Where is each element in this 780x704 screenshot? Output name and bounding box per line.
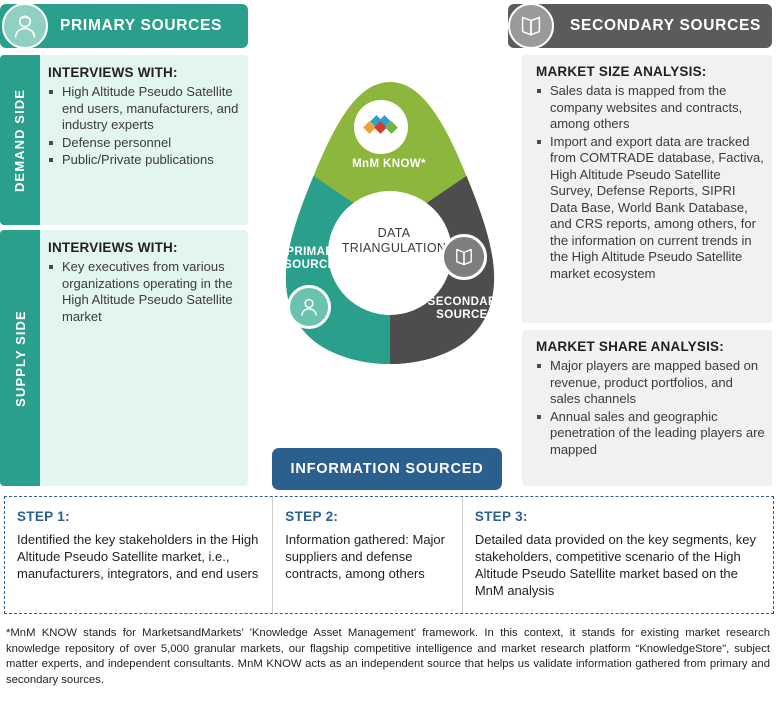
step-3-text: Detailed data provided on the key segmen…: [475, 531, 761, 599]
step-1-title: STEP 1:: [17, 509, 260, 524]
step-3: STEP 3: Detailed data provided on the ke…: [462, 497, 773, 613]
mnm-logo-icon: [354, 100, 408, 154]
list-item: High Altitude Pseudo Satellite end users…: [48, 84, 240, 134]
supply-side-content: INTERVIEWS WITH: Key executives from var…: [48, 240, 240, 326]
footnote: *MnM KNOW stands for MarketsandMarkets’ …: [6, 626, 770, 688]
steps-strip: STEP 1: Identified the key stakeholders …: [4, 496, 774, 614]
lobe-label-mnm-know: MnM KNOW*: [314, 158, 464, 171]
market-share-heading: MARKET SHARE ANALYSIS:: [536, 339, 766, 354]
supply-side-tab: SUPPLY SIDE: [0, 230, 40, 486]
list-item: Sales data is mapped from the company we…: [536, 83, 766, 133]
demand-side-bullets: High Altitude Pseudo Satellite end users…: [48, 84, 240, 169]
list-item: Key executives from various organization…: [48, 259, 240, 325]
lobe-label-secondary-sources: SECONDARY SOURCES: [420, 296, 512, 322]
demand-side-tab-label: DEMAND SIDE: [13, 88, 28, 191]
step-2-title: STEP 2:: [285, 509, 450, 524]
market-size-content: MARKET SIZE ANALYSIS: Sales data is mapp…: [536, 64, 766, 283]
step-1: STEP 1: Identified the key stakeholders …: [5, 497, 272, 613]
book-icon: [508, 3, 554, 49]
information-sourced-banner: INFORMATION SOURCED: [272, 448, 502, 490]
step-2: STEP 2: Information gathered: Major supp…: [272, 497, 462, 613]
list-item: Import and export data are tracked from …: [536, 134, 766, 283]
market-size-heading: MARKET SIZE ANALYSIS:: [536, 64, 766, 79]
center-label: DATA TRIANGULATION: [340, 226, 448, 256]
primary-sources-title: PRIMARY SOURCES: [60, 17, 222, 35]
person-icon: [287, 285, 331, 329]
data-triangulation-diagram: MnM KNOW* PRIMARY SOURCES SECONDARY SOUR…: [268, 78, 512, 368]
book-icon: [441, 234, 487, 280]
demand-side-tab: DEMAND SIDE: [0, 55, 40, 225]
demand-side-content: INTERVIEWS WITH: High Altitude Pseudo Sa…: [48, 65, 240, 170]
list-item: Defense personnel: [48, 135, 240, 152]
market-share-analysis-panel: MARKET SHARE ANALYSIS: Major players are…: [522, 330, 772, 486]
step-2-text: Information gathered: Major suppliers an…: [285, 531, 450, 582]
market-share-bullets: Major players are mapped based on revenu…: [536, 358, 766, 458]
person-icon: [2, 3, 48, 49]
demand-side-heading: INTERVIEWS WITH:: [48, 65, 240, 80]
list-item: Annual sales and geographic penetration …: [536, 409, 766, 459]
information-sourced-label: INFORMATION SOURCED: [291, 461, 484, 477]
step-3-title: STEP 3:: [475, 509, 761, 524]
list-item: Major players are mapped based on revenu…: [536, 358, 766, 408]
secondary-sources-title: SECONDARY SOURCES: [570, 17, 761, 35]
supply-side-tab-label: SUPPLY SIDE: [13, 310, 28, 407]
step-1-text: Identified the key stakeholders in the H…: [17, 531, 260, 582]
market-share-content: MARKET SHARE ANALYSIS: Major players are…: [536, 339, 766, 459]
supply-side-bullets: Key executives from various organization…: [48, 259, 240, 325]
supply-side-heading: INTERVIEWS WITH:: [48, 240, 240, 255]
infographic-canvas: PRIMARY SOURCES INTERVIEWS WITH: High Al…: [0, 0, 780, 704]
market-size-analysis-panel: MARKET SIZE ANALYSIS: Sales data is mapp…: [522, 55, 772, 323]
market-size-bullets: Sales data is mapped from the company we…: [536, 83, 766, 282]
list-item: Public/Private publications: [48, 152, 240, 169]
